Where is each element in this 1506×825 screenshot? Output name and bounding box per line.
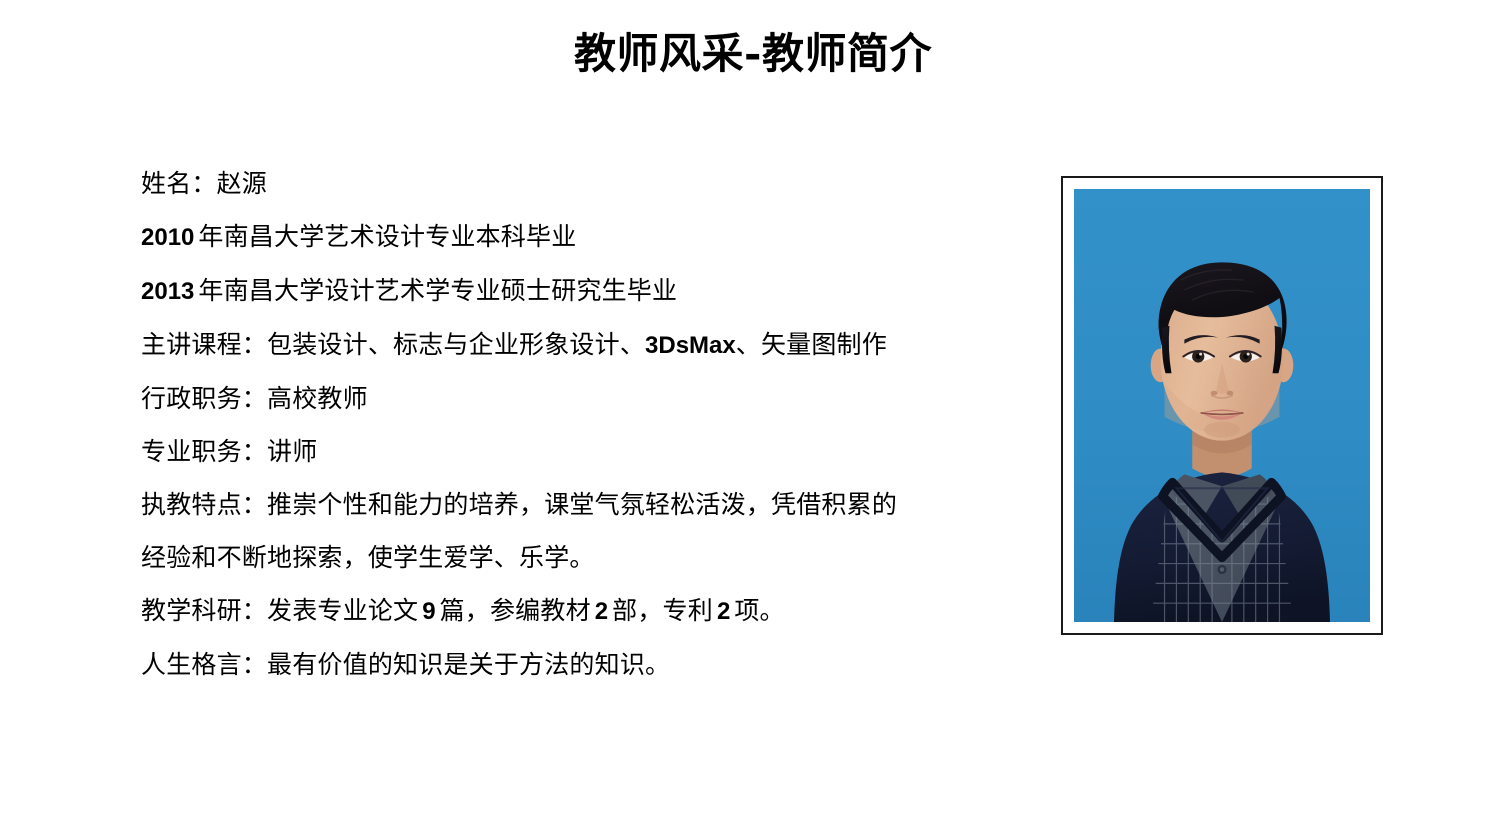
teacher-portrait-photo: [1074, 189, 1370, 622]
bio-line-academic-title: 专业职务：讲师: [141, 425, 1021, 478]
portrait-illustration: [1074, 189, 1370, 622]
research-segment-3: 部，专利: [612, 596, 713, 625]
bio-line-research: 教学科研：发表专业论文9篇，参编教材2部，专利2项。: [141, 584, 1021, 638]
admin-post-value: 高校教师: [267, 384, 368, 413]
motto-label: 人生格言：: [141, 650, 267, 679]
bachelor-year: 2010: [141, 224, 194, 251]
bachelor-text: 年南昌大学艺术设计专业本科毕业: [198, 222, 576, 251]
bio-line-bachelor: 2010年南昌大学艺术设计专业本科毕业: [141, 210, 1021, 264]
bio-line-courses: 主讲课程：包装设计、标志与企业形象设计、3DsMax、矢量图制作: [141, 318, 1021, 372]
courses-segment-1: 包装设计、标志与企业形象设计、: [267, 330, 645, 359]
research-segment-4: 项。: [734, 596, 784, 625]
research-paper-count: 9: [422, 598, 435, 625]
courses-software: 3DsMax: [645, 332, 736, 359]
academic-title-label: 专业职务：: [141, 437, 267, 466]
teaching-style-text-2: 经验和不断地探索，使学生爱学、乐学。: [141, 543, 595, 572]
page-title: 教师风采-教师简介: [0, 28, 1506, 80]
bio-line-teaching-style-2: 经验和不断地探索，使学生爱学、乐学。: [141, 531, 1021, 584]
courses-label: 主讲课程：: [141, 330, 267, 359]
research-segment-1: 发表专业论文: [267, 596, 418, 625]
portrait-frame: [1061, 176, 1383, 635]
teaching-style-text-1: 推崇个性和能力的培养，课堂气氛轻松活泼，凭借积累的: [267, 490, 897, 519]
bio-line-motto: 人生格言：最有价值的知识是关于方法的知识。: [141, 638, 1021, 691]
courses-segment-2: 、矢量图制作: [736, 330, 887, 359]
academic-title-value: 讲师: [267, 437, 317, 466]
teaching-style-label: 执教特点：: [141, 490, 267, 519]
bio-line-teaching-style-1: 执教特点：推崇个性和能力的培养，课堂气氛轻松活泼，凭借积累的: [141, 478, 1021, 531]
research-label: 教学科研：: [141, 596, 267, 625]
slide-canvas: 教师风采-教师简介 姓名：赵源 2010年南昌大学艺术设计专业本科毕业 2013…: [0, 0, 1506, 825]
master-text: 年南昌大学设计艺术学专业硕士研究生毕业: [198, 276, 677, 305]
master-year: 2013: [141, 278, 194, 305]
teacher-bio-block: 姓名：赵源 2010年南昌大学艺术设计专业本科毕业 2013年南昌大学设计艺术学…: [141, 157, 1021, 691]
motto-value: 最有价值的知识是关于方法的知识。: [267, 650, 670, 679]
bio-line-admin-post: 行政职务：高校教师: [141, 372, 1021, 425]
bio-line-name: 姓名：赵源: [141, 157, 1021, 210]
research-patent-count: 2: [717, 598, 730, 625]
bio-line-master: 2013年南昌大学设计艺术学专业硕士研究生毕业: [141, 264, 1021, 318]
admin-post-label: 行政职务：: [141, 384, 267, 413]
research-segment-2: 篇，参编教材: [440, 596, 591, 625]
bio-name-text: 姓名：赵源: [141, 169, 267, 198]
research-textbook-count: 2: [595, 598, 608, 625]
